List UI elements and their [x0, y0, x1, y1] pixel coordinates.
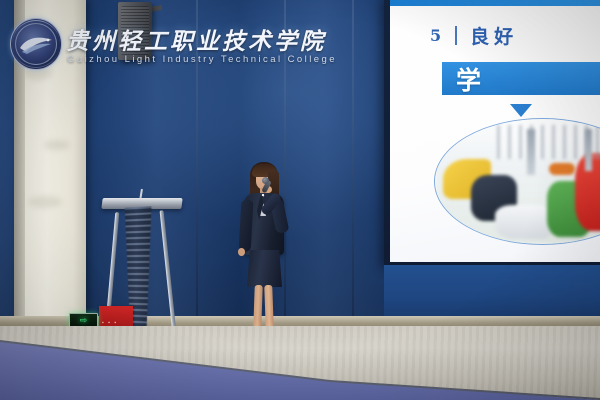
oval-photo-collage: [434, 118, 600, 245]
stage-scene-photo: 贵州轻工职业技术学院 Guizhou Light Industry Techni…: [0, 0, 600, 400]
presenter-hand-left: [238, 248, 245, 256]
slide-chip: 学: [442, 62, 600, 95]
slide-chip-label: 学: [456, 61, 489, 97]
slide-pointer-marker: [510, 104, 532, 117]
school-crest-icon: [10, 18, 62, 70]
red-notice-banner: ▪ ▪ ▪: [99, 306, 133, 328]
crest-bird-glyph: [18, 32, 54, 56]
school-name-chinese: 贵州轻工职业技术学院: [66, 22, 326, 56]
presenter-leg-left: [253, 285, 263, 329]
exit-running-figure-icon: ⇨: [80, 316, 88, 325]
slide-number: 5: [430, 26, 442, 45]
projection-screen: 5 良好 学: [390, 0, 600, 262]
slide-divider: [455, 26, 457, 45]
slide-title: 良好: [470, 22, 518, 49]
wall-panel-seam: [352, 0, 354, 330]
slide-top-bar: [390, 0, 600, 6]
school-name-english: Guizhou Light Industry Technical College: [67, 54, 337, 65]
stage-wall-band: [384, 265, 600, 317]
presenter-leg-right: [264, 285, 274, 329]
microphone-head: [262, 177, 269, 184]
presenter-skirt: [247, 250, 282, 287]
presenter: [232, 162, 294, 340]
slide-heading: 5 良好: [430, 22, 518, 49]
lectern-leg-right: [160, 210, 177, 334]
